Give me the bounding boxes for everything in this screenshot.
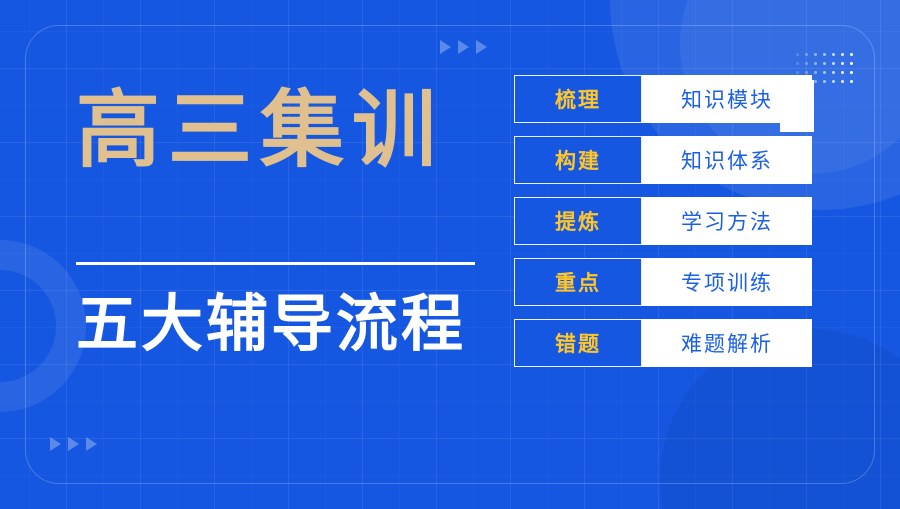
- process-row[interactable]: 错题 难题解析: [514, 319, 812, 367]
- poster-canvas: 高三集训 五大辅导流程 梳理 知识模块 构建 知识体系 提炼 学习方法 重点 专…: [0, 0, 900, 509]
- process-row[interactable]: 重点 专项训练: [514, 258, 812, 306]
- process-list: 梳理 知识模块 构建 知识体系 提炼 学习方法 重点 专项训练 错题 难题解析: [514, 75, 812, 367]
- process-desc: 专项训练: [642, 258, 812, 306]
- process-desc: 知识模块: [642, 75, 812, 123]
- process-tag: 构建: [514, 136, 642, 184]
- process-row[interactable]: 提炼 学习方法: [514, 197, 812, 245]
- headline-block: 高三集训 五大辅导流程: [76, 88, 486, 358]
- process-desc: 学习方法: [642, 197, 812, 245]
- title-divider: [76, 262, 475, 265]
- decorative-arrows-top: [440, 40, 487, 54]
- process-tag: 错题: [514, 319, 642, 367]
- triangle-right-icon: [440, 40, 451, 54]
- triangle-right-icon: [476, 40, 487, 54]
- triangle-right-icon: [50, 437, 61, 451]
- triangle-right-icon: [458, 40, 469, 54]
- process-row[interactable]: 梳理 知识模块: [514, 75, 812, 123]
- process-desc: 难题解析: [642, 319, 812, 367]
- process-desc: 知识体系: [642, 136, 812, 184]
- triangle-right-icon: [86, 437, 97, 451]
- process-tag: 重点: [514, 258, 642, 306]
- process-row[interactable]: 构建 知识体系: [514, 136, 812, 184]
- decorative-ring-left: [0, 240, 86, 412]
- decorative-arrows-bottom: [50, 437, 97, 451]
- process-tag: 梳理: [514, 75, 642, 123]
- main-title: 高三集训: [76, 88, 486, 172]
- process-tag: 提炼: [514, 197, 642, 245]
- sub-title: 五大辅导流程: [76, 291, 486, 358]
- triangle-right-icon: [68, 437, 79, 451]
